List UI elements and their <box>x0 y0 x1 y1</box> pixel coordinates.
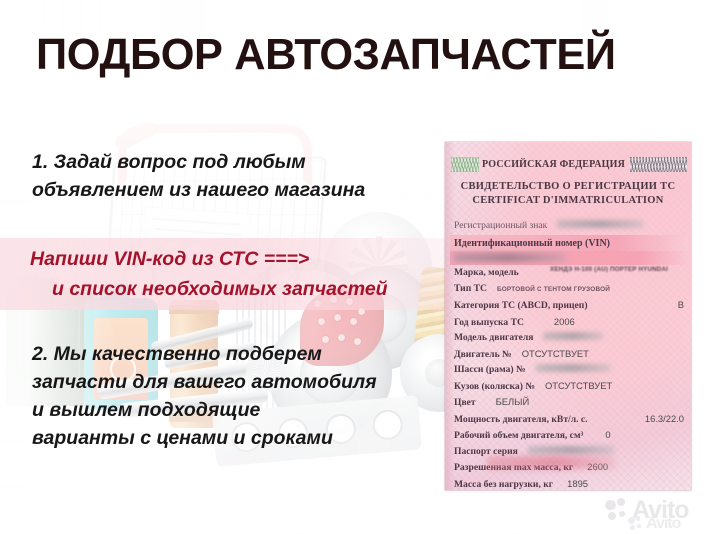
field-value: 1895 <box>567 476 588 491</box>
field-label: Марка, модель <box>454 265 519 281</box>
certificate-header: РОССИЙСКАЯ ФЕДЕРАЦИЯ <box>451 156 687 173</box>
certificate-title-ru: СВИДЕТЕЛЬСТВО О РЕГИСТРАЦИИ ТС <box>445 180 691 194</box>
certificate-fields: Регистрационный знак Идентификационный н… <box>454 218 684 490</box>
field-label: Идентификационный номер (VIN) <box>454 236 610 252</box>
guilloche-pattern-left <box>451 157 479 172</box>
promo-banner: MOTOR ПОДБОР АВТОЗАПЧАСТЕЙ 1. Задай вопр… <box>0 0 720 534</box>
step-2-line-1: 2. Мы качественно подберем <box>32 340 377 368</box>
guilloche-pattern-right <box>630 157 687 172</box>
field-value: 0 <box>605 427 610 443</box>
field-value: БОРТОВОЙ С ТЕНТОМ ГРУЗОВОЙ <box>497 282 610 298</box>
avito-logo-icon <box>628 516 644 532</box>
field-value: 2006 <box>554 314 575 330</box>
avito-watermark-text-secondary: Avito <box>646 515 680 533</box>
field-label: Двигатель № <box>454 347 512 363</box>
certificate-row: Цвет БЕЛЫЙ <box>454 394 684 411</box>
field-label: Рабочий объем двигателя, см³ <box>454 428 583 444</box>
certificate-row: Шасси (рама) № <box>454 362 684 378</box>
certificate-row: Год выпуска ТС 2006 <box>454 314 684 331</box>
field-label: Мощность двигателя, кВт/л. с. <box>454 412 588 428</box>
certificate-row: Регистрационный знак <box>454 218 684 234</box>
vehicle-registration-certificate: РОССИЙСКАЯ ФЕДЕРАЦИЯ СВИДЕТЕЛЬСТВО О РЕГ… <box>445 142 691 490</box>
field-value: 16.3/22.0 <box>645 411 684 427</box>
step-1-line-1: 1. Задай вопрос под любым <box>32 148 365 176</box>
certificate-row: Мощность двигателя, кВт/л. с. 16.3/22.0 <box>454 411 684 428</box>
vin-callout-line-1: Напиши VIN-код из СТС ===> <box>30 248 309 270</box>
field-value: B <box>678 297 684 313</box>
certificate-row: Кузов (коляска) № ОТСУТСТВУЕТ <box>454 378 684 395</box>
vin-callout: Напиши VIN-код из СТС ===> и список необ… <box>30 244 388 304</box>
vin-callout-line-2: и список необходимых запчастей <box>30 274 388 304</box>
field-label: Категория ТС (ABCD, прицеп) <box>454 298 588 314</box>
certificate-row: Марка, модель ХЕНДЭ Н-100 (АU) ПОРТЕР HY… <box>454 265 684 281</box>
field-label: Масса без нагрузки, кг <box>454 477 553 491</box>
redacted-value <box>536 364 610 372</box>
step-2-line-2: запчасти для вашего автомобиля <box>32 368 377 396</box>
step-1-line-2: объявлением из нашего магазина <box>32 176 365 204</box>
field-label: Кузов (коляска) № <box>454 379 535 395</box>
field-label: Год выпуска ТС <box>454 315 524 331</box>
step-1-text: 1. Задай вопрос под любым объявлением из… <box>32 148 365 204</box>
certificate-row: Категория ТС (ABCD, прицеп) B <box>454 297 684 314</box>
redacted-value <box>528 446 614 454</box>
step-2-line-3: и вышлем подходящие <box>32 396 377 424</box>
certificate-row: Двигатель № ОТСУТСТВУЕТ <box>454 346 684 363</box>
field-value: БЕЛЫЙ <box>496 394 530 410</box>
page-title: ПОДБОР АВТОЗАПЧАСТЕЙ <box>36 33 686 77</box>
certificate-country: РОССИЙСКАЯ ФЕДЕРАЦИЯ <box>479 159 628 170</box>
redacted-vin-value <box>450 251 688 265</box>
redacted-value: ХЕНДЭ Н-100 (АU) ПОРТЕР HYUNDAI <box>550 266 666 281</box>
certificate-title: СВИДЕТЕЛЬСТВО О РЕГИСТРАЦИИ ТС CERTIFICA… <box>445 180 691 208</box>
avito-watermark-secondary: Avito <box>628 515 680 533</box>
redacted-value <box>557 220 643 228</box>
certificate-title-fr: CERTIFICAT D'IMMATRICULATION <box>445 194 691 208</box>
redacted-stamp <box>487 456 615 469</box>
redacted-value <box>543 332 603 340</box>
field-label: Модель двигателя <box>454 330 533 346</box>
certificate-row: Модель двигателя <box>454 330 684 346</box>
field-label: Цвет <box>454 395 476 411</box>
field-label: Шасси (рама) № <box>454 362 526 378</box>
field-label: Регистрационный знак <box>454 218 547 234</box>
certificate-row-vin: Идентификационный номер (VIN) <box>450 235 688 252</box>
step-2-line-4: варианты с ценами и сроками <box>32 424 377 452</box>
field-label: Тип ТС <box>454 281 487 297</box>
step-2-text: 2. Мы качественно подберем запчасти для … <box>32 340 377 452</box>
field-value: ОТСУТСТВУЕТ <box>522 346 589 362</box>
field-value: ОТСУТСТВУЕТ <box>545 378 612 394</box>
certificate-row: Масса без нагрузки, кг 1895 <box>454 476 684 491</box>
avito-logo-icon <box>605 498 630 523</box>
certificate-row: Рабочий объем двигателя, см³ 0 <box>454 427 684 444</box>
certificate-row: Тип ТС БОРТОВОЙ С ТЕНТОМ ГРУЗОВОЙ <box>454 281 684 298</box>
